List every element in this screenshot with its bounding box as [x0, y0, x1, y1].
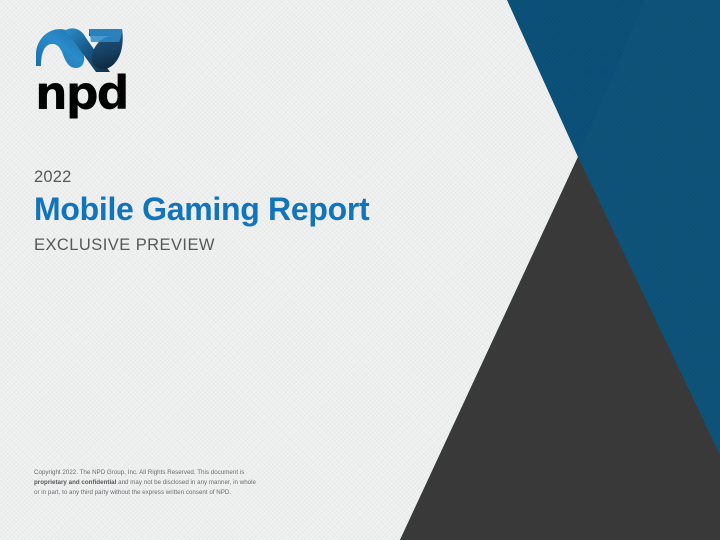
page-subtitle: EXCLUSIVE PREVIEW	[34, 236, 464, 254]
copyright-confidential-emphasis: proprietary and confidential	[34, 479, 116, 486]
logo-right-highlight	[89, 29, 122, 42]
title-block: 2022 Mobile Gaming Report EXCLUSIVE PREV…	[34, 168, 464, 254]
page-title: Mobile Gaming Report	[34, 192, 464, 228]
copyright-notice: Copyright 2022. The NPD Group, Inc. All …	[34, 468, 334, 498]
copyright-line-3: or in part, to any third party without t…	[34, 489, 231, 496]
npd-logo: npd	[34, 22, 154, 114]
copyright-line-1: Copyright 2022. The NPD Group, Inc. All …	[34, 469, 244, 476]
title-slide: npd 2022 Mobile Gaming Report EXCLUSIVE …	[0, 0, 720, 540]
report-year: 2022	[34, 168, 464, 186]
copyright-line-2: and may not be disclosed in any manner, …	[116, 479, 256, 486]
npd-wordmark: npd	[35, 70, 154, 116]
